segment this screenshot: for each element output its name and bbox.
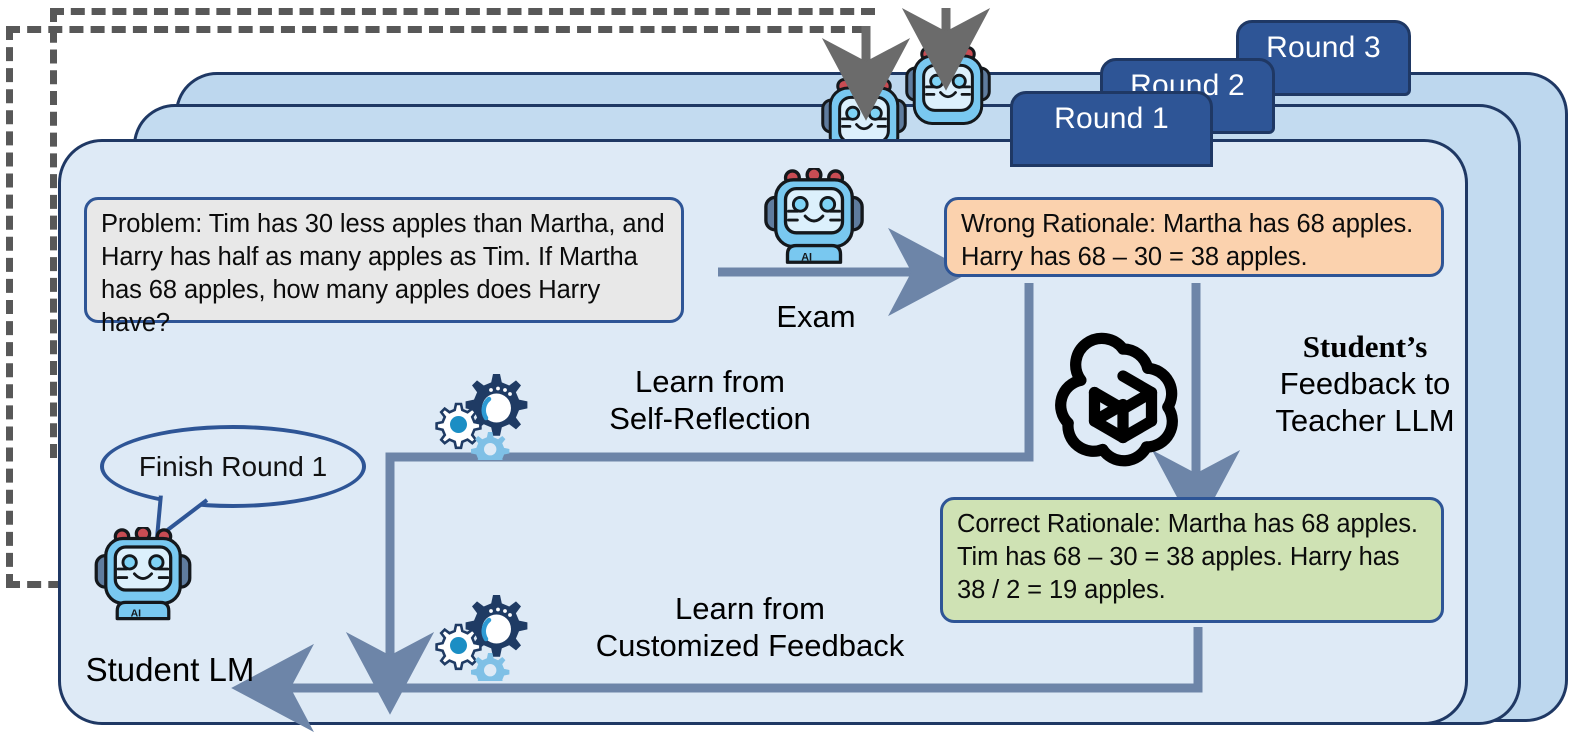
tab-round-1-label: Round 1: [1054, 102, 1169, 136]
problem-text: Problem: Tim has 30 less apples than Mar…: [87, 200, 681, 349]
tab-round-3-label: Round 3: [1266, 31, 1381, 65]
customized-feedback-label-line1: Learn from: [570, 590, 930, 627]
diagram-canvas: Round 3 Round 2 Round 1 Fi: [0, 0, 1575, 741]
openai-logo-icon: [1048, 325, 1198, 475]
robot-student-icon: AI: [88, 527, 198, 632]
student-lm-label: Student LM: [40, 650, 300, 690]
finish-round-bubble: Finish Round 1: [100, 425, 366, 508]
finish-round-bubble-label: Finish Round 1: [139, 451, 327, 483]
tab-round-1[interactable]: Round 1: [1010, 91, 1213, 167]
student-feedback-label-line2: Feedback to: [1240, 365, 1490, 402]
robot-base-ai-label: AI: [801, 251, 812, 263]
wrong-rationale-text: Wrong Rationale: Martha has 68 apples. H…: [947, 200, 1441, 282]
student-feedback-label-line3: Teacher LLM: [1240, 402, 1490, 439]
problem-box: Problem: Tim has 30 less apples than Mar…: [84, 197, 684, 323]
self-reflection-label-line1: Learn from: [560, 363, 860, 400]
gears-customized-feedback-icon: [432, 583, 550, 681]
robot-exam-icon: AI: [757, 168, 871, 276]
customized-feedback-label: Learn from Customized Feedback: [570, 590, 930, 664]
self-reflection-label-line2: Self-Reflection: [560, 400, 860, 437]
student-feedback-label-line1: Student’s: [1240, 328, 1490, 365]
student-feedback-label: Student’s Feedback to Teacher LLM: [1240, 328, 1490, 440]
correct-rationale-box: Correct Rationale: Martha has 68 apples.…: [940, 497, 1444, 623]
customized-feedback-label-line2: Customized Feedback: [570, 627, 930, 664]
gears-self-reflection-icon: [432, 362, 550, 460]
robot-peek-right-icon: [901, 40, 995, 130]
robot-base-ai-label: AI: [131, 608, 142, 620]
wrong-rationale-box: Wrong Rationale: Martha has 68 apples. H…: [944, 197, 1444, 277]
self-reflection-label: Learn from Self-Reflection: [560, 363, 860, 437]
correct-rationale-text: Correct Rationale: Martha has 68 apples.…: [943, 500, 1441, 615]
exam-label: Exam: [716, 298, 916, 335]
